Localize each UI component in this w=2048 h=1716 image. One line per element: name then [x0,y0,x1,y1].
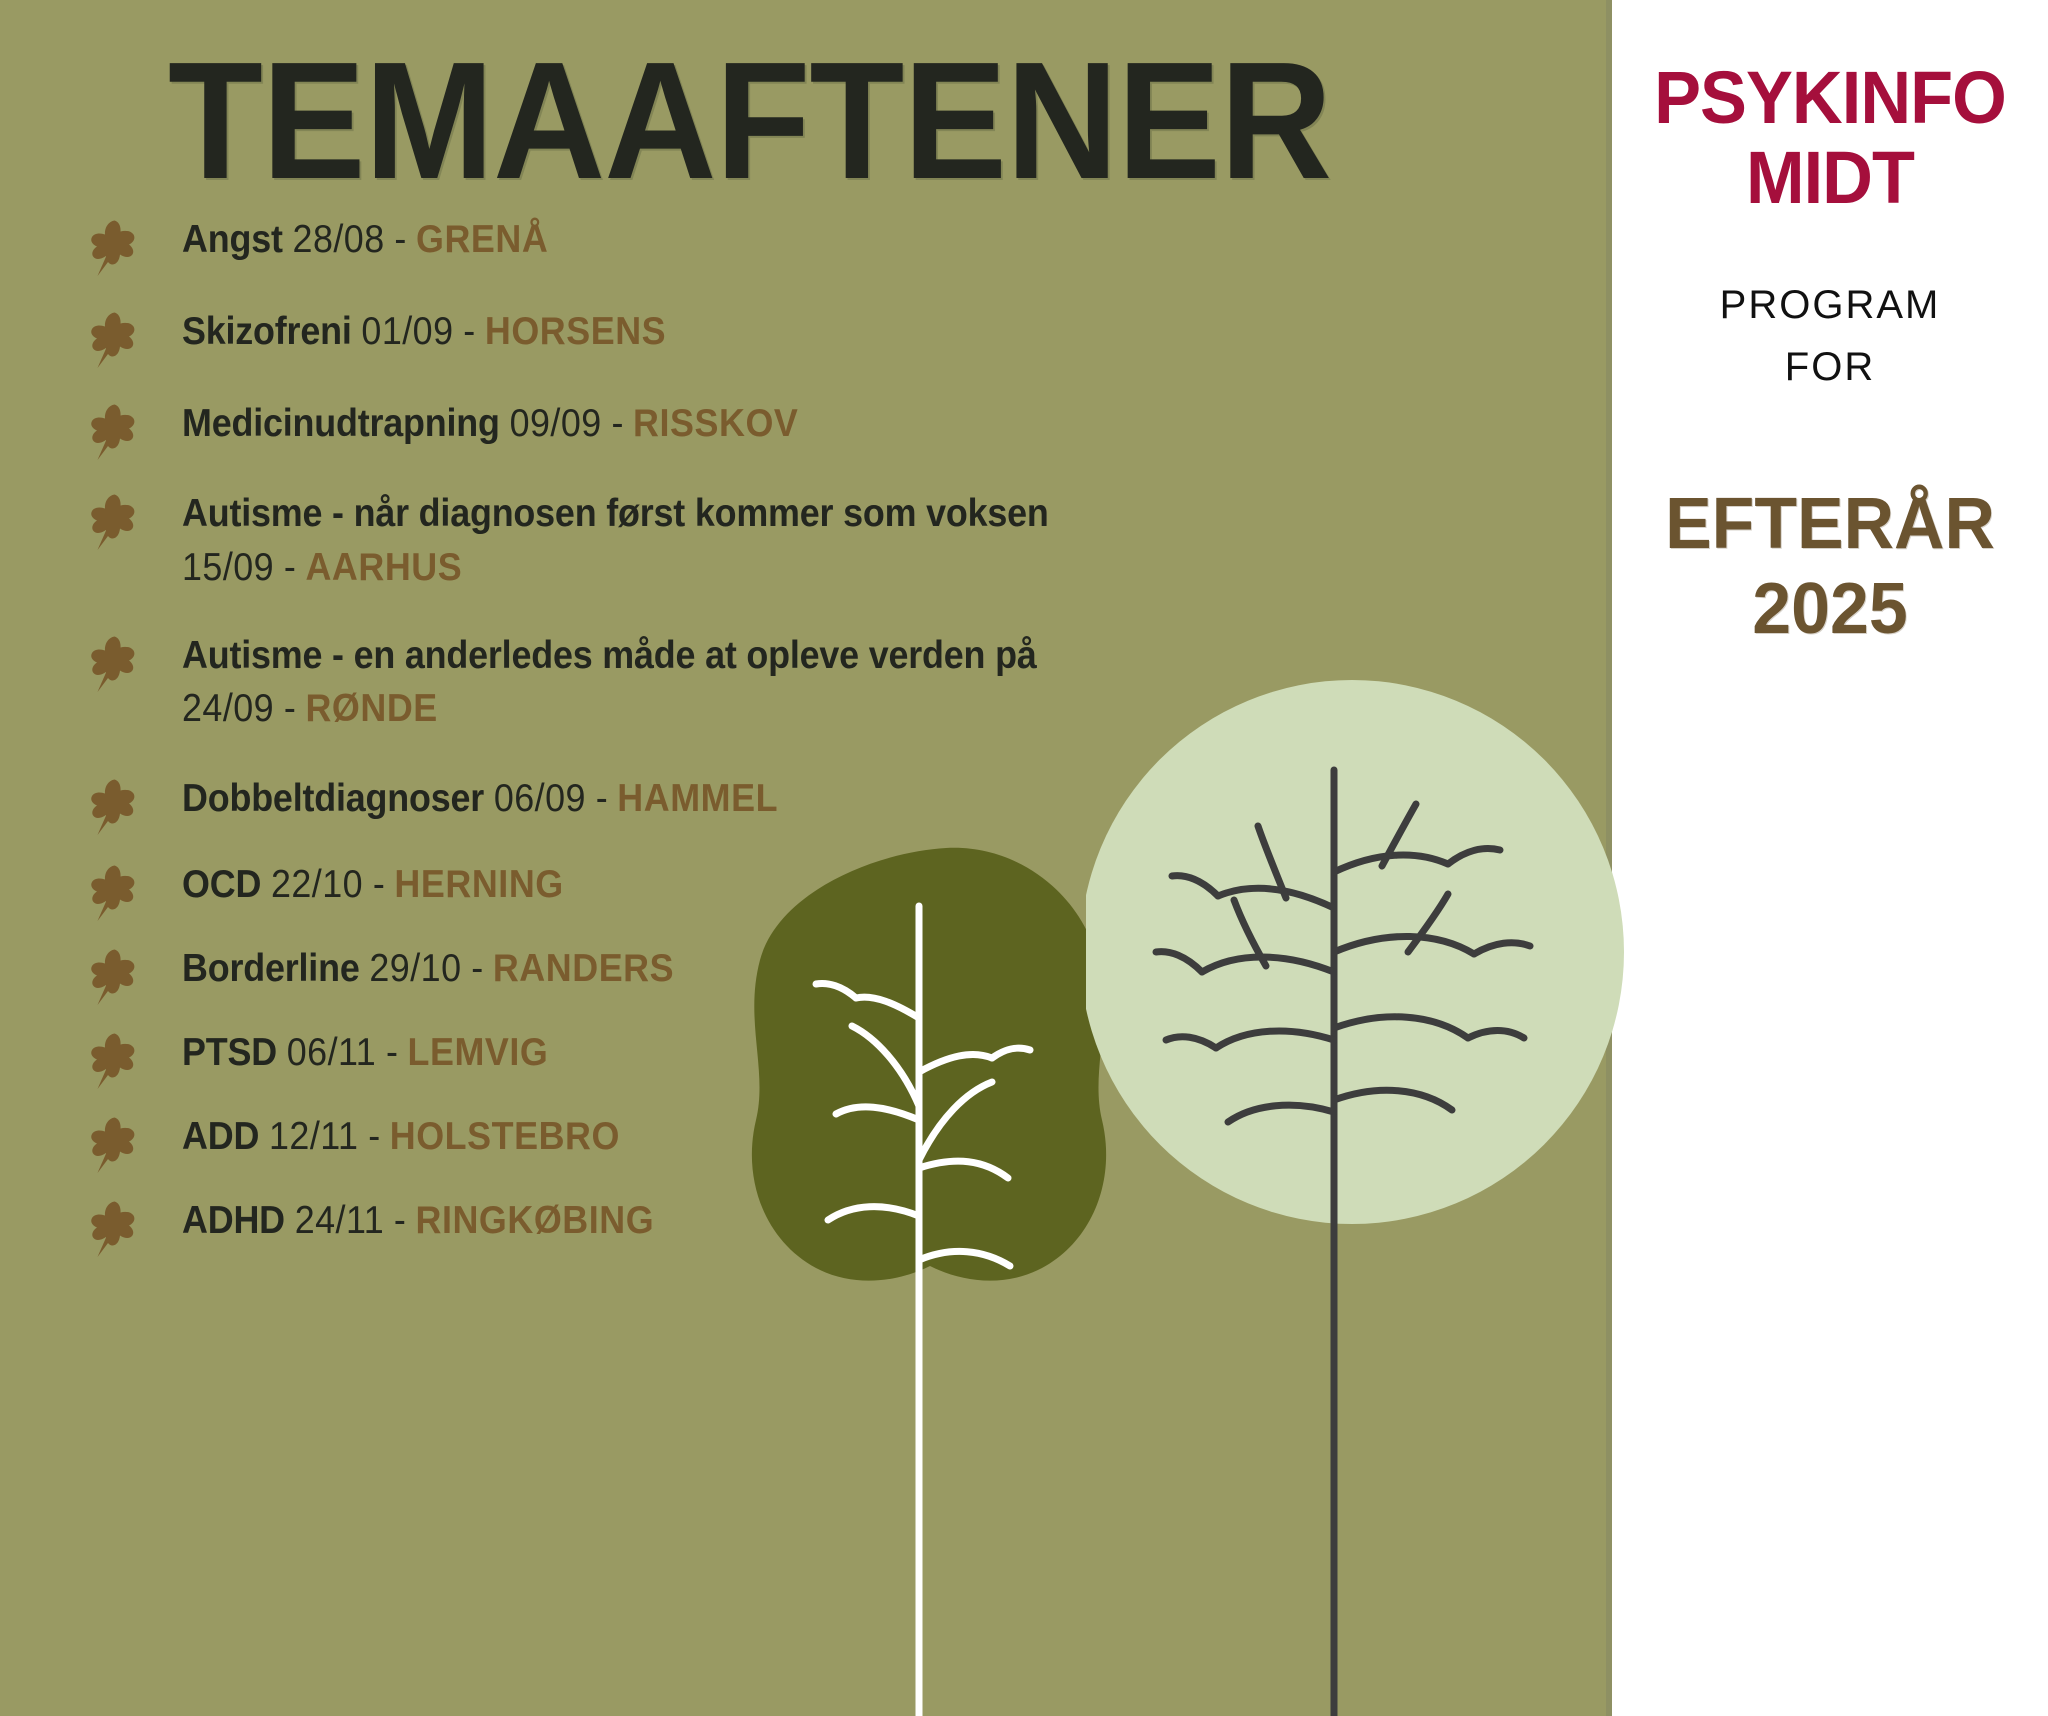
season-line1: EFTERÅR [1665,484,1995,564]
event-row[interactable]: ADD 12/11 - HOLSTEBRO [90,1110,1210,1174]
event-date: 22/10 [271,863,363,906]
event-date: 12/11 [269,1115,358,1158]
event-text: Angst 28/08 - GRENÅ [182,213,548,267]
event-separator: - [394,218,406,261]
event-topic: OCD [182,863,261,906]
pushpin-wrapper [90,397,182,461]
event-row[interactable]: ADHD 24/11 - RINGKØBING [90,1194,1210,1258]
brand-line2: MIDT [1623,138,2037,218]
pushpin-wrapper [90,1194,182,1258]
event-date: 09/09 [510,402,602,445]
event-topic: Autisme - når diagnosen først kommer som… [182,492,1049,535]
event-topic: Dobbeltdiagnoser [182,777,484,820]
event-date: 06/11 [287,1031,376,1074]
pushpin-icon [90,1200,136,1258]
event-topic: Angst [182,218,283,261]
event-city: RISSKOV [633,402,798,445]
event-city: HORSENS [485,310,666,353]
pushpin-wrapper [90,772,182,836]
event-city: HAMMEL [617,777,778,820]
event-date: 29/10 [369,947,461,990]
event-city: RINGKØBING [415,1199,654,1242]
event-separator: - [284,687,296,730]
event-row[interactable]: Autisme - når diagnosen først kommer som… [90,487,1210,595]
event-date: 28/08 [293,218,385,261]
event-separator: - [386,1031,398,1074]
event-city: RANDERS [493,947,674,990]
event-topic: Autisme - en anderledes måde at opleve v… [182,634,1037,677]
event-text: Borderline 29/10 - RANDERS [182,942,674,996]
event-separator: - [368,1115,380,1158]
event-row[interactable]: Autisme - en anderledes måde at opleve v… [90,629,1210,737]
pushpin-icon [90,219,136,277]
pushpin-wrapper [90,1026,182,1090]
program-line2: FOR [1612,336,2048,398]
event-list: Angst 28/08 - GRENÅSkizofreni 01/09 - HO… [90,213,1210,1266]
event-row[interactable]: OCD 22/10 - HERNING [90,858,1210,922]
event-date: 06/09 [494,777,586,820]
event-text: Autisme - en anderledes måde at opleve v… [182,629,1128,737]
pushpin-wrapper [90,858,182,922]
event-city: AARHUS [305,546,462,589]
event-text: ADD 12/11 - HOLSTEBRO [182,1110,620,1164]
event-text: Autisme - når diagnosen først kommer som… [182,487,1128,595]
pushpin-icon [90,864,136,922]
event-separator: - [373,863,385,906]
event-separator: - [596,777,608,820]
poster-root: TEMAAFTENER Angst 28/08 - GRENÅSkizofren… [0,0,2048,1716]
event-row[interactable]: Medicinudtrapning 09/09 - RISSKOV [90,397,1210,461]
event-topic: ADHD [182,1199,285,1242]
pushpin-icon [90,635,136,693]
event-row[interactable]: PTSD 06/11 - LEMVIG [90,1026,1210,1090]
event-separator: - [463,310,475,353]
event-row[interactable]: Borderline 29/10 - RANDERS [90,942,1210,1006]
event-text: Skizofreni 01/09 - HORSENS [182,305,666,359]
pushpin-icon [90,1116,136,1174]
brand-title: PSYKINFO MIDT [1623,58,2037,218]
event-separator: - [611,402,623,445]
event-separator: - [284,546,296,589]
season-line2: 2025 [1619,567,2042,652]
page-title: TEMAAFTENER [168,38,1331,205]
pushpin-wrapper [90,305,182,369]
event-topic: Borderline [182,947,360,990]
program-line1: PROGRAM [1612,274,2048,336]
event-separator: - [394,1199,406,1242]
pushpin-icon [90,493,136,551]
pushpin-icon [90,778,136,836]
event-topic: ADD [182,1115,259,1158]
event-topic: Skizofreni [182,310,352,353]
event-topic: PTSD [182,1031,277,1074]
event-row[interactable]: Angst 28/08 - GRENÅ [90,213,1210,277]
season-label: EFTERÅR 2025 [1619,482,2042,652]
event-date: 01/09 [361,310,453,353]
pushpin-icon [90,948,136,1006]
right-white-panel: PSYKINFO MIDT PROGRAM FOR EFTERÅR 2025 [1612,0,2048,1716]
event-city: HERNING [394,863,563,906]
pushpin-icon [90,1032,136,1090]
brand-line1: PSYKINFO [1654,56,2006,139]
event-city: HOLSTEBRO [390,1115,620,1158]
event-city: RØNDE [305,687,437,730]
program-label: PROGRAM FOR [1612,274,2048,398]
event-text: Dobbeltdiagnoser 06/09 - HAMMEL [182,772,778,826]
event-separator: - [471,947,483,990]
left-olive-panel: TEMAAFTENER Angst 28/08 - GRENÅSkizofren… [0,0,1612,1716]
event-row[interactable]: Dobbeltdiagnoser 06/09 - HAMMEL [90,772,1210,836]
pushpin-icon [90,403,136,461]
event-text: OCD 22/10 - HERNING [182,858,564,912]
pushpin-wrapper [90,629,182,693]
event-row[interactable]: Skizofreni 01/09 - HORSENS [90,305,1210,369]
event-text: ADHD 24/11 - RINGKØBING [182,1194,654,1248]
pushpin-wrapper [90,487,182,551]
pushpin-wrapper [90,1110,182,1174]
event-date: 24/09 [182,687,274,730]
event-date: 24/11 [295,1199,384,1242]
event-city: LEMVIG [408,1031,549,1074]
event-city: GRENÅ [416,218,548,261]
event-text: Medicinudtrapning 09/09 - RISSKOV [182,397,798,451]
pushpin-icon [90,311,136,369]
event-topic: Medicinudtrapning [182,402,500,445]
event-text: PTSD 06/11 - LEMVIG [182,1026,548,1080]
event-date: 15/09 [182,546,274,589]
pushpin-wrapper [90,942,182,1006]
pushpin-wrapper [90,213,182,277]
